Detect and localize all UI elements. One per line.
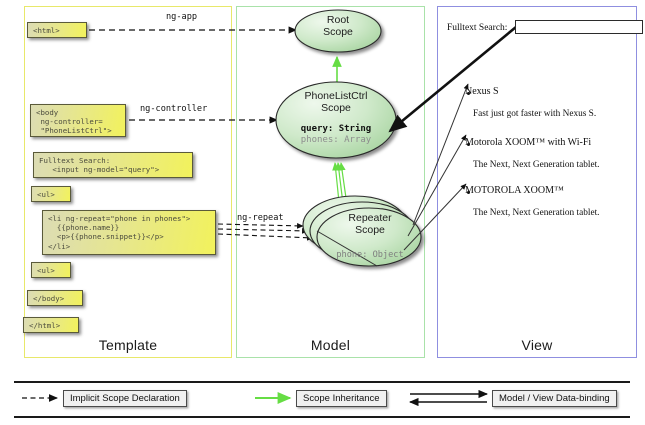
code-box-html-open[interactable]: <html>: [27, 22, 87, 38]
view-item-name: Nexus S: [465, 86, 499, 97]
code-box-li-repeat[interactable]: <li ng-repeat="phone in phones"> {{phone…: [42, 210, 216, 255]
view-item-name: MOTOROLA XOOM™: [465, 185, 564, 196]
legend-divider-top: [14, 381, 630, 383]
view-item-snippet: The Next, Next Generation tablet.: [473, 208, 600, 218]
legend-item-scope-inheritance: Scope Inheritance: [296, 390, 387, 407]
legend-item-model-view-databinding: Model / View Data-binding: [492, 390, 617, 407]
view-content: Fulltext Search: Nexus S Fast just got f…: [437, 6, 637, 358]
view-search-input[interactable]: [515, 20, 643, 34]
label-ng-app: ng-app: [166, 12, 197, 22]
diagram-root: Template Model View: [0, 0, 645, 425]
code-box-body-open[interactable]: <body ng-controller= "PhoneListCtrl">: [30, 104, 126, 137]
legend-divider-bottom: [14, 416, 630, 418]
panel-template-label: Template: [25, 337, 231, 353]
panel-model: Model: [236, 6, 425, 358]
label-ng-controller: ng-controller: [140, 104, 207, 114]
code-box-html-close[interactable]: </html>: [23, 317, 79, 333]
view-item-name: Motorola XOOM™ with Wi-Fi: [465, 137, 591, 148]
code-box-search-input[interactable]: Fulltext Search: <input ng-model="query"…: [33, 152, 193, 178]
code-box-body-close[interactable]: </body>: [27, 290, 83, 306]
view-item-snippet: Fast just got faster with Nexus S.: [473, 109, 596, 119]
code-box-ul-close[interactable]: <ul>: [31, 262, 71, 278]
legend-item-implicit-scope-declaration: Implicit Scope Declaration: [63, 390, 187, 407]
code-box-ul-open[interactable]: <ul>: [31, 186, 71, 202]
legend-glyph-databinding: [410, 394, 487, 402]
panel-model-label: Model: [237, 337, 424, 353]
view-search-label: Fulltext Search:: [447, 23, 507, 33]
view-item-snippet: The Next, Next Generation tablet.: [473, 160, 600, 170]
label-ng-repeat: ng-repeat: [237, 213, 284, 223]
